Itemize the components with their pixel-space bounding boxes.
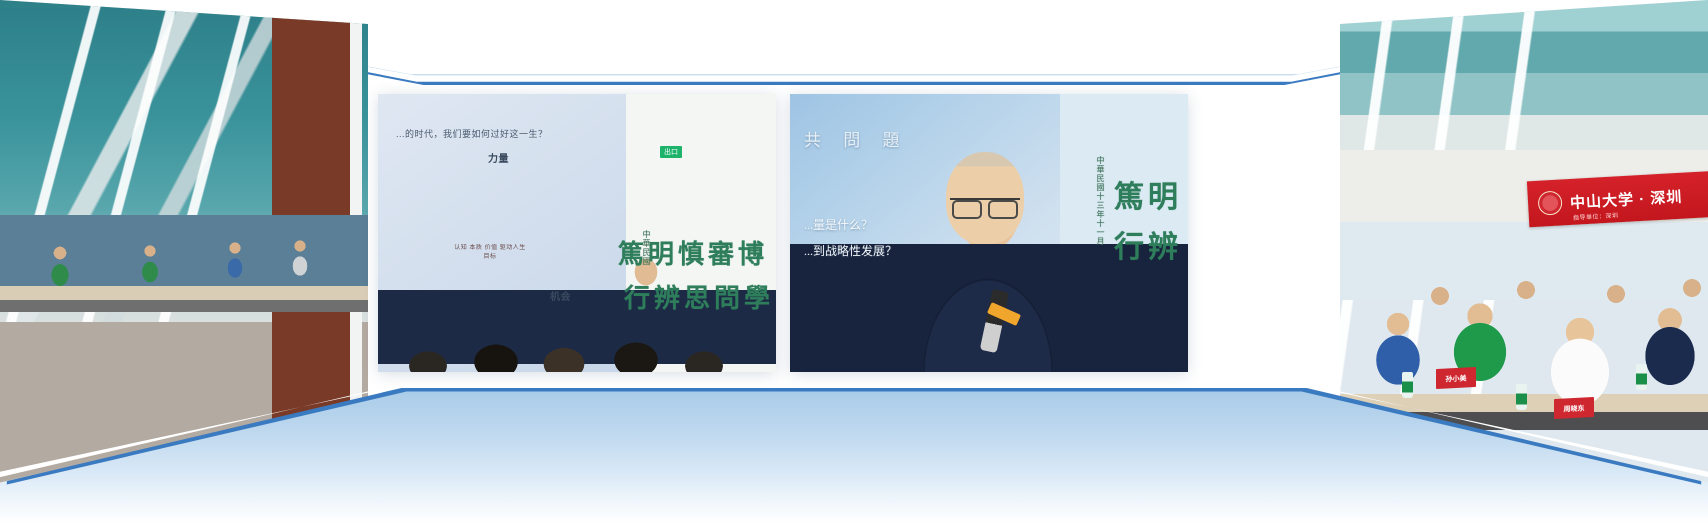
nameplate-label: 周晓东 (1554, 403, 1594, 415)
university-seal-icon (1537, 190, 1562, 215)
calligraphy-line-2: 行辨 (1114, 222, 1182, 266)
exit-sign: 出口 (660, 146, 682, 158)
event-banner-text: 中山大学 · 深圳 (1569, 185, 1682, 212)
projected-slide-question-2: ...到战略性发展？ (804, 242, 897, 259)
water-bottle (1402, 372, 1413, 398)
projected-slide-question-1: ...量是什么？ (804, 216, 873, 233)
water-bottle (1636, 364, 1647, 390)
gallery-slide-slide-and-speaker[interactable]: ...的时代，我们要如何过好这一生？ 力量 机会 认知 本质 价值 驱动人生目标… (378, 94, 776, 372)
projected-slide-label-right: 机会 (550, 290, 571, 305)
nameplate-label: 孙小美 (1436, 373, 1476, 385)
calligraphy-line-1: 篤明 (1114, 172, 1182, 216)
desk-nameplate: 孙小美 (1436, 367, 1476, 389)
desk-nameplate: 周晓东 (1554, 397, 1594, 419)
projected-slide-headline: ...的时代，我们要如何过好这一生？ (396, 128, 593, 142)
event-banner-subtext: 指导单位：深圳 (1573, 210, 1619, 222)
projected-slide-center-text: 认知 本质 价值 驱动人生目标 (452, 244, 528, 262)
projected-slide-title: 共 問 題 (804, 126, 909, 151)
calligraphy-side-note: 中華民國十三年十一月 (1095, 156, 1106, 246)
water-bottle (1516, 384, 1527, 410)
event-banner: 中山大学 · 深圳 指导单位：深圳 (1527, 171, 1708, 228)
gallery-slide-speaker-portrait[interactable]: 共 問 題 ...量是什么？ ...到战略性发展？ 篤明 行辨 中華民國十三年十… (790, 94, 1188, 372)
calligraphy-line-2: 行辨思問學 (624, 278, 774, 315)
eyeglasses-icon (950, 198, 1020, 216)
photo-gallery-carousel[interactable]: ...的时代，我们要如何过好这一生？ 力量 机会 认知 本质 价值 驱动人生目标… (0, 0, 1708, 523)
calligraphy-side-note: 中華民國 (641, 230, 652, 266)
projected-slide-label-top: 力量 (488, 152, 509, 167)
